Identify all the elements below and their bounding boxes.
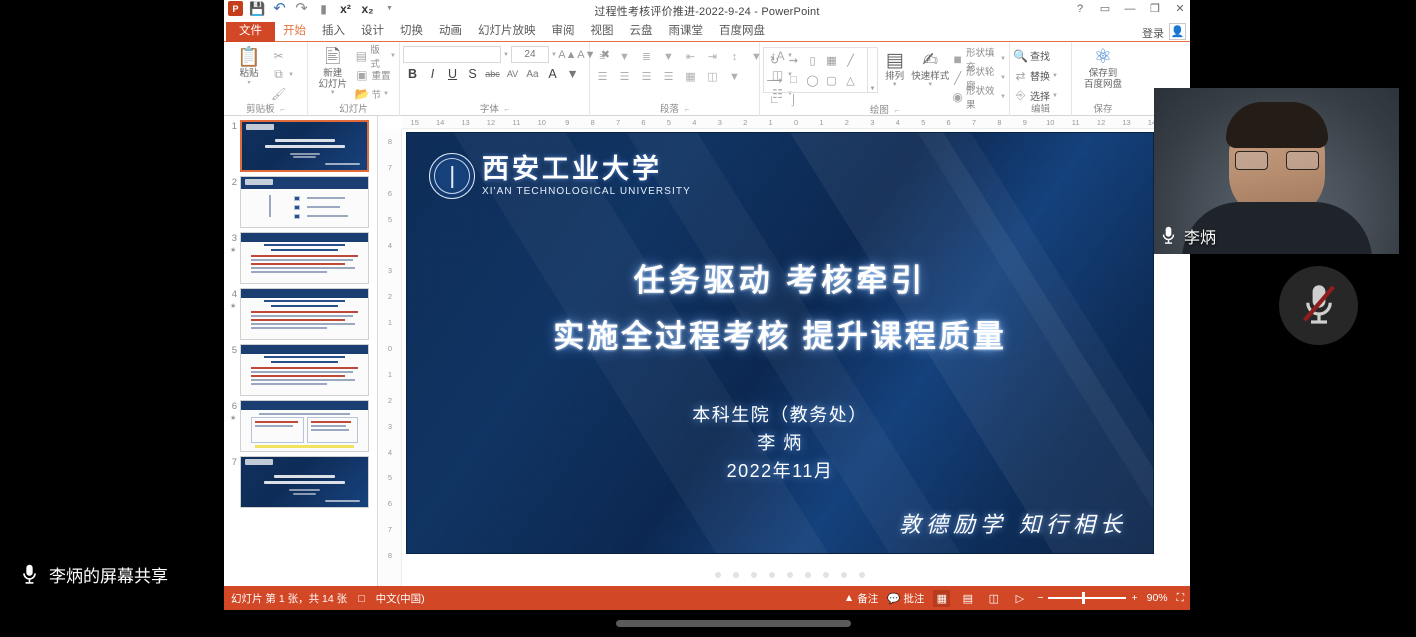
thumb-highlight bbox=[255, 445, 354, 448]
slides-group-label: 幻灯片 bbox=[311, 104, 396, 116]
shape-outline-dropdown-icon[interactable]: ▼ bbox=[1000, 75, 1006, 81]
thumb-title bbox=[264, 481, 345, 484]
slide-canvas-area: 1514131211109876543210123456789101112131… bbox=[378, 116, 1190, 586]
thumbnail-preview[interactable] bbox=[240, 456, 369, 508]
ruler-tick: 1 bbox=[378, 362, 402, 388]
select-button[interactable]: ⎆选择▼ bbox=[1013, 87, 1058, 104]
character-spacing-button[interactable]: AV bbox=[503, 64, 522, 84]
clipboard-group-label: 剪贴板 ⌐ bbox=[227, 104, 304, 116]
ribbon-display-options-icon[interactable]: ▭ bbox=[1099, 2, 1111, 16]
university-motto: 敦德励学 知行相长 bbox=[899, 507, 1127, 539]
participant-hair bbox=[1226, 102, 1328, 148]
ruler-tick: 2 bbox=[732, 118, 757, 127]
save-to-baidu-label: 保存到百度网盘 bbox=[1084, 68, 1122, 90]
tab-云盘[interactable]: 云盘 bbox=[622, 22, 661, 42]
ribbon-group-paragraph: ≡▼ ≣▼ ⇤ ⇥ ↕▼ ☰ ☰ ☰ ☰ ▦ ◫▼ bbox=[590, 42, 760, 116]
slide-thumbnail-2[interactable]: 2 bbox=[228, 176, 369, 228]
ruler-tick: 0 bbox=[783, 118, 808, 127]
nav-dot[interactable] bbox=[695, 572, 703, 580]
thumb-sub bbox=[289, 489, 319, 491]
thumb-line bbox=[271, 361, 337, 363]
tab-雨课堂[interactable]: 雨课堂 bbox=[661, 22, 712, 42]
font-name-dropdown-icon[interactable]: ▼ bbox=[503, 52, 509, 58]
status-bar-left: 幻灯片 第 1 张，共 14 张 ▢ 中文(中国) bbox=[224, 591, 425, 606]
nav-dot[interactable] bbox=[859, 572, 865, 578]
shape-fill-dropdown-icon[interactable]: ▼ bbox=[1000, 56, 1006, 62]
thumbnail-number: 1 bbox=[228, 120, 237, 172]
thumb-line bbox=[271, 249, 337, 251]
university-seal-icon bbox=[429, 153, 475, 199]
thumb-title bbox=[274, 475, 335, 478]
nav-dot[interactable] bbox=[787, 572, 793, 578]
section-button[interactable]: 📂节▼ bbox=[354, 85, 396, 102]
quick-styles-icon: ✍ bbox=[922, 50, 938, 71]
notes-label: 备注 bbox=[857, 591, 878, 606]
thumb-band bbox=[241, 233, 368, 242]
animation-star-icon: ★ bbox=[230, 414, 236, 422]
ruler-tick: 7 bbox=[378, 517, 402, 543]
ruler-tick: 6 bbox=[631, 118, 656, 127]
thumbnail-preview[interactable] bbox=[240, 232, 369, 284]
copy-button[interactable]: ⧉▼ bbox=[271, 66, 294, 83]
arrange-label: 排列 bbox=[885, 71, 904, 82]
animation-star-icon: ★ bbox=[230, 246, 236, 254]
nav-dot[interactable] bbox=[805, 572, 811, 578]
glasses-lens-left bbox=[1235, 151, 1268, 170]
thumb-item bbox=[294, 196, 300, 201]
increase-indent-icon[interactable]: ⇥ bbox=[703, 48, 722, 65]
thumbnail-preview[interactable] bbox=[240, 288, 369, 340]
window-controls[interactable]: ? ▭ — ❐ ✕ bbox=[1074, 2, 1186, 16]
thumb-item bbox=[294, 205, 300, 210]
slide-subtitle: 本科生院（教务处） 李 炳 2022年11月 bbox=[407, 401, 1153, 485]
status-bar-right: ▲ 备注 💬 批注 ▦ ▤ ◫ ▷ − + 90% ⛶ bbox=[844, 590, 1184, 607]
bold-button[interactable]: B bbox=[403, 64, 422, 84]
ruler-tick: 4 bbox=[378, 233, 402, 259]
ruler-tick: 1 bbox=[809, 118, 834, 127]
ruler-tick: 5 bbox=[656, 118, 681, 127]
horizontal-scrollbar[interactable] bbox=[616, 620, 851, 627]
thumb-line bbox=[251, 371, 353, 373]
thumb-band bbox=[241, 345, 368, 354]
distribute-icon[interactable]: ▦ bbox=[681, 68, 700, 85]
font-size-input[interactable]: 24 bbox=[511, 46, 549, 63]
thumb-title bbox=[265, 145, 345, 148]
numbering-dropdown-icon[interactable]: ▼ bbox=[659, 48, 678, 65]
layout-icon: ▤ bbox=[354, 49, 368, 63]
align-right-icon[interactable]: ☰ bbox=[637, 68, 656, 85]
shape-roundrect-icon[interactable]: ▢ bbox=[822, 70, 841, 90]
notes-button[interactable]: ▲ 备注 bbox=[844, 591, 878, 606]
thumb-line bbox=[307, 215, 348, 217]
ruler-tick: 14 bbox=[427, 118, 452, 127]
select-label: 选择 bbox=[1030, 88, 1050, 103]
slide-thumbnail-1[interactable]: 1 bbox=[228, 120, 369, 172]
thumb-line bbox=[311, 421, 352, 423]
thumbnail-preview[interactable] bbox=[240, 400, 369, 452]
ruler-tick: 9 bbox=[1012, 118, 1037, 127]
thumb-logo bbox=[246, 124, 274, 130]
columns-icon[interactable]: ◫ bbox=[703, 68, 722, 85]
ribbon-group-save: ⚛ 保存到百度网盘 保存 bbox=[1072, 42, 1134, 116]
thumb-line bbox=[255, 421, 298, 423]
ruler-tick: 2 bbox=[378, 284, 402, 310]
comments-button[interactable]: 💬 批注 bbox=[887, 591, 924, 606]
replace-dropdown-icon[interactable]: ▼ bbox=[1052, 73, 1058, 79]
thumb-line bbox=[269, 195, 271, 218]
thumbnail-number: 4 bbox=[228, 288, 237, 340]
tab-百度网盘[interactable]: 百度网盘 bbox=[711, 22, 773, 42]
thumb-band bbox=[241, 289, 368, 298]
bullets-icon[interactable]: ≡ bbox=[593, 48, 612, 65]
nav-dot[interactable] bbox=[769, 572, 775, 578]
notes-icon: ▲ bbox=[844, 592, 854, 604]
participant-name: 李炳 bbox=[1184, 224, 1216, 248]
close-button[interactable]: ✕ bbox=[1174, 2, 1186, 16]
section-icon: 📂 bbox=[354, 87, 369, 101]
replace-icon: ⇄ bbox=[1013, 69, 1028, 83]
paragraph-dialog-launcher[interactable]: ⌐ bbox=[684, 105, 689, 114]
help-icon[interactable]: ? bbox=[1074, 2, 1086, 16]
thumbnail-number: 3 bbox=[228, 232, 237, 284]
font-group-label: 字体 ⌐ bbox=[403, 104, 586, 116]
ribbon-group-slides: 🖹 新建幻灯片 ▼ ▤版式▼ ▣重置 📂节▼ 幻灯片 bbox=[308, 42, 400, 116]
shape-effects-icon: ◉ bbox=[951, 90, 964, 104]
copy-dropdown-icon[interactable]: ▼ bbox=[288, 72, 294, 78]
nav-dot[interactable] bbox=[733, 572, 739, 578]
slide-thumbnail-6[interactable]: 6★ bbox=[228, 400, 369, 452]
screen-share-label: 李炳的屏幕共享 bbox=[49, 562, 168, 587]
ruler-tick: 6 bbox=[378, 491, 402, 517]
slide-title-line1: 任务驱动 考核牵引 bbox=[407, 255, 1153, 300]
font-label-text: 字体 bbox=[480, 104, 499, 115]
new-slide-icon: 🖹 bbox=[325, 47, 340, 68]
ruler-tick: 13 bbox=[453, 118, 478, 127]
language-indicator[interactable]: 中文(中国) bbox=[376, 591, 425, 606]
layout-dropdown-icon[interactable]: ▼ bbox=[390, 53, 396, 59]
italic-button[interactable]: I bbox=[423, 64, 442, 84]
subtitle-department: 本科生院（教务处） bbox=[407, 401, 1153, 429]
shape-effects-button[interactable]: ◉形状效果▼ bbox=[951, 88, 1006, 105]
ruler-tick: 8 bbox=[987, 118, 1012, 127]
shape-frame-icon[interactable]: ▦ bbox=[822, 50, 841, 70]
reset-icon: ▣ bbox=[354, 68, 369, 82]
nav-dot[interactable] bbox=[823, 572, 829, 578]
account-icon[interactable]: 👤 bbox=[1169, 23, 1186, 40]
tab-视图[interactable]: 视图 bbox=[583, 22, 622, 42]
paste-button[interactable]: 📋 粘贴 ▾ bbox=[227, 44, 271, 86]
thumb-line bbox=[259, 413, 350, 415]
copy-icon: ⧉ bbox=[271, 67, 286, 82]
university-name: 西安工业大学 bbox=[482, 155, 691, 185]
window-title: 过程性考核评价推进-2022-9-24 - PowerPoint bbox=[224, 3, 1190, 19]
ruler-tick: 11 bbox=[1063, 118, 1088, 127]
thumb-line bbox=[264, 244, 345, 246]
thumb-item bbox=[294, 214, 300, 219]
shape-line-icon[interactable]: ╱ bbox=[841, 50, 860, 70]
zoom-out-button[interactable]: − bbox=[1037, 592, 1043, 604]
new-slide-button[interactable]: 🖹 新建幻灯片 ▼ bbox=[311, 44, 354, 96]
thumbnail-preview[interactable] bbox=[240, 120, 369, 172]
slide-sorter-icon[interactable]: ▤ bbox=[959, 590, 976, 607]
shape-outline-icon: ╱ bbox=[951, 71, 964, 85]
font-dialog-launcher[interactable]: ⌐ bbox=[504, 105, 509, 114]
title-bar: P 💾 ↶ ↷ ▮ x² x₂ ▼ 过程性考核评价推进-2022-9-24 - … bbox=[224, 0, 1190, 21]
editor-area: 123★4★56★7 15141312111098765432101234567… bbox=[224, 116, 1190, 586]
thumb-line bbox=[251, 315, 353, 317]
clipboard-dialog-launcher[interactable]: ⌐ bbox=[280, 105, 285, 114]
shape-curve-icon[interactable]: ⇝ bbox=[784, 50, 803, 70]
thumb-line bbox=[311, 425, 347, 427]
editing-group-label: 编辑 bbox=[1013, 104, 1068, 116]
thumb-line bbox=[311, 429, 349, 431]
numbering-icon[interactable]: ≣ bbox=[637, 48, 656, 65]
shadow-button[interactable]: S bbox=[463, 64, 482, 84]
bullets-dropdown-icon[interactable]: ▼ bbox=[615, 48, 634, 65]
subtitle-date: 2022年11月 bbox=[407, 457, 1153, 485]
ruler-tick: 5 bbox=[378, 207, 402, 233]
tab-切换[interactable]: 切换 bbox=[392, 22, 431, 42]
shape-arrow-icon[interactable]: ⟶ bbox=[765, 70, 784, 90]
columns-dropdown-icon[interactable]: ▼ bbox=[725, 68, 744, 85]
change-case-button[interactable]: Aa bbox=[523, 64, 542, 84]
decrease-indent-icon[interactable]: ⇤ bbox=[681, 48, 700, 65]
normal-view-icon[interactable]: ▦ bbox=[933, 590, 950, 607]
thumb-motto bbox=[325, 500, 361, 502]
horizontal-ruler: 1514131211109876543210123456789101112131… bbox=[402, 116, 1190, 129]
thumb-line bbox=[307, 206, 340, 208]
find-icon: 🔍 bbox=[1013, 49, 1028, 63]
thumb-line bbox=[251, 367, 358, 369]
ribbon-group-font: ▼ 24 ▼ A▲ A▼ ✖ B I U S abc AV Aa bbox=[400, 42, 590, 116]
justify-icon[interactable]: ☰ bbox=[659, 68, 678, 85]
ruler-tick: 3 bbox=[378, 258, 402, 284]
screen-root: P 💾 ↶ ↷ ▮ x² x₂ ▼ 过程性考核评价推进-2022-9-24 - … bbox=[0, 0, 1416, 637]
ruler-tick: 7 bbox=[378, 155, 402, 181]
thumb-logo bbox=[245, 179, 273, 185]
zoom-slider[interactable]: − + bbox=[1037, 592, 1137, 604]
powerpoint-window: P 💾 ↶ ↷ ▮ x² x₂ ▼ 过程性考核评价推进-2022-9-24 - … bbox=[224, 0, 1190, 610]
zoom-in-button[interactable]: + bbox=[1131, 592, 1137, 604]
thumbnail-number: 2 bbox=[228, 176, 237, 228]
status-bar: 幻灯片 第 1 张，共 14 张 ▢ 中文(中国) ▲ 备注 💬 批注 ▦ ▤ … bbox=[224, 586, 1190, 610]
screen-share-left-backdrop bbox=[0, 0, 224, 637]
microphone-icon bbox=[1160, 225, 1177, 247]
slide-thumbnail-7[interactable]: 7 bbox=[228, 456, 369, 508]
thumb-sub bbox=[290, 153, 320, 155]
shape-arc-icon[interactable]: ↻ bbox=[765, 50, 784, 70]
fit-window-icon[interactable]: ⛶ bbox=[1177, 592, 1184, 605]
slide-thumbnail-4[interactable]: 4★ bbox=[228, 288, 369, 340]
drawing-label-text: 绘图 bbox=[870, 105, 889, 116]
comments-label: 批注 bbox=[903, 591, 924, 606]
paste-dropdown-icon[interactable]: ▾ bbox=[247, 79, 250, 86]
section-label: 节 bbox=[371, 87, 381, 101]
strikethrough-button[interactable]: abc bbox=[483, 64, 502, 84]
quick-styles-button[interactable]: ✍ 快速样式 ▼ bbox=[911, 47, 949, 88]
ribbon: 📋 粘贴 ▾ ✂ ⧉▼ 🖌 剪贴板 ⌐ bbox=[224, 42, 1190, 116]
slide-navigation-dots[interactable] bbox=[406, 572, 1154, 580]
ruler-tick: 6 bbox=[936, 118, 961, 127]
ribbon-group-clipboard: 📋 粘贴 ▾ ✂ ⧉▼ 🖌 剪贴板 ⌐ bbox=[224, 42, 308, 116]
shapes-more-button[interactable]: ▼ bbox=[868, 47, 879, 93]
screen-share-indicator: 李炳的屏幕共享 bbox=[20, 562, 168, 587]
reset-label: 重置 bbox=[371, 68, 390, 82]
ruler-tick: 7 bbox=[605, 118, 630, 127]
vertical-ruler: 87654321012345678 bbox=[378, 129, 402, 586]
thumb-line bbox=[251, 311, 358, 313]
participant-name-badge: 李炳 bbox=[1160, 224, 1216, 248]
thumb-line bbox=[271, 305, 337, 307]
nav-dot[interactable] bbox=[841, 572, 847, 578]
minimize-button[interactable]: — bbox=[1124, 2, 1136, 16]
shapes-gallery[interactable]: ↻ ⇝ ▯ ▦ ╱ ⟶ □ ◯ ▢ △ ∟ ⌡ bbox=[763, 47, 868, 93]
new-slide-label: 新建幻灯片 bbox=[318, 68, 347, 90]
new-slide-dropdown-icon[interactable]: ▼ bbox=[330, 90, 336, 96]
quick-styles-dropdown-icon[interactable]: ▼ bbox=[927, 82, 933, 88]
find-button[interactable]: 🔍查找 bbox=[1013, 47, 1058, 64]
nav-dot[interactable] bbox=[715, 572, 721, 578]
line-spacing-icon[interactable]: ↕ bbox=[725, 48, 744, 65]
align-center-icon[interactable]: ☰ bbox=[615, 68, 634, 85]
arrange-button[interactable]: ▤ 排列 ▼ bbox=[878, 47, 911, 88]
tab-动画[interactable]: 动画 bbox=[431, 22, 470, 42]
thumb-line bbox=[251, 327, 327, 329]
font-name-input[interactable] bbox=[403, 46, 501, 63]
ribbon-tab-strip: 文件开始插入设计切换动画幻灯片放映审阅视图云盘雨课堂百度网盘 登录 👤 bbox=[224, 21, 1190, 42]
ribbon-group-editing: 🔍查找 ⇄替换▼ ⎆选择▼ 编辑 bbox=[1010, 42, 1072, 116]
paragraph-group-label: 段落 ⌐ bbox=[593, 104, 756, 116]
thumbnail-preview[interactable] bbox=[240, 344, 369, 396]
select-icon: ⎆ bbox=[1013, 88, 1028, 103]
ruler-tick: 8 bbox=[580, 118, 605, 127]
thumb-line bbox=[255, 425, 293, 427]
cut-icon: ✂ bbox=[271, 49, 286, 63]
ribbon-group-drawing: ↻ ⇝ ▯ ▦ ╱ ⟶ □ ◯ ▢ △ ∟ ⌡ ▼ bbox=[760, 42, 1010, 116]
muted-participant-avatar[interactable] bbox=[1279, 266, 1358, 345]
slide-canvas[interactable]: 西安工业大学 XI'AN TECHNOLOGICAL UNIVERSITY 任务… bbox=[406, 132, 1154, 554]
thumbnail-preview[interactable] bbox=[240, 176, 369, 228]
replace-button[interactable]: ⇄替换▼ bbox=[1013, 67, 1058, 84]
nav-dot[interactable] bbox=[751, 572, 757, 578]
ruler-tick: 10 bbox=[1038, 118, 1063, 127]
shape-textbox-icon[interactable]: ▯ bbox=[803, 50, 822, 70]
slide-thumbnail-3[interactable]: 3★ bbox=[228, 232, 369, 284]
replace-label: 替换 bbox=[1030, 68, 1050, 83]
shape-triangle-icon[interactable]: △ bbox=[841, 70, 860, 90]
ruler-tick: 4 bbox=[682, 118, 707, 127]
thumb-line bbox=[251, 259, 353, 261]
shape-effects-dropdown-icon[interactable]: ▼ bbox=[1000, 94, 1006, 100]
ruler-tick: 8 bbox=[378, 543, 402, 569]
thumb-motto bbox=[325, 163, 360, 165]
thumb-line bbox=[251, 271, 327, 273]
slide-counter: 幻灯片 第 1 张，共 14 张 bbox=[231, 591, 347, 606]
reset-button[interactable]: ▣重置 bbox=[354, 66, 396, 83]
ruler-tick: 3 bbox=[860, 118, 885, 127]
tab-审阅[interactable]: 审阅 bbox=[544, 22, 583, 42]
slideshow-icon[interactable]: ▷ bbox=[1011, 590, 1028, 607]
format-painter-icon: 🖌 bbox=[271, 87, 286, 101]
font-color-dropdown-icon[interactable]: ▼ bbox=[563, 64, 582, 84]
thumb-line bbox=[251, 383, 327, 385]
slide-thumbnail-5[interactable]: 5 bbox=[228, 344, 369, 396]
arrange-icon: ▤ bbox=[886, 50, 904, 71]
tab-插入[interactable]: 插入 bbox=[314, 22, 353, 42]
ruler-tick: 9 bbox=[555, 118, 580, 127]
grow-font-icon[interactable]: A▲ bbox=[559, 46, 576, 63]
glasses-lens-right bbox=[1286, 151, 1319, 170]
zoom-track[interactable] bbox=[1048, 597, 1126, 599]
thumb-logo bbox=[245, 459, 273, 465]
thumb-band bbox=[241, 401, 368, 410]
video-participant-tile[interactable]: 李炳 bbox=[1154, 88, 1399, 254]
paste-label: 粘贴 bbox=[239, 68, 258, 79]
thumbnail-number: 7 bbox=[228, 456, 237, 508]
thumbnail-number: 6 bbox=[228, 400, 237, 452]
theme-icon[interactable]: ▢ bbox=[357, 593, 366, 604]
ruler-tick: 2 bbox=[834, 118, 859, 127]
arrange-dropdown-icon[interactable]: ▼ bbox=[892, 82, 898, 88]
ruler-tick: 3 bbox=[707, 118, 732, 127]
tab-幻灯片放映[interactable]: 幻灯片放映 bbox=[470, 22, 544, 42]
cut-button[interactable]: ✂ bbox=[271, 47, 294, 64]
underline-button[interactable]: U bbox=[443, 64, 462, 84]
thumb-sub bbox=[293, 156, 316, 158]
ruler-tick: 10 bbox=[529, 118, 554, 127]
ribbon-tabs[interactable]: 文件开始插入设计切换动画幻灯片放映审阅视图云盘雨课堂百度网盘 bbox=[224, 21, 1190, 42]
save-group-label: 保存 bbox=[1075, 104, 1131, 116]
clipboard-label-text: 剪贴板 bbox=[246, 104, 275, 115]
tab-开始[interactable]: 开始 bbox=[275, 22, 314, 42]
shape-fill-icon: ◾ bbox=[951, 52, 964, 66]
format-painter-button[interactable]: 🖌 bbox=[271, 85, 294, 102]
shape-rect-icon[interactable]: □ bbox=[784, 70, 803, 90]
shape-oval-icon[interactable]: ◯ bbox=[803, 70, 822, 90]
font-size-dropdown-icon[interactable]: ▼ bbox=[551, 52, 557, 58]
restore-button[interactable]: ❐ bbox=[1149, 2, 1161, 16]
thumb-line bbox=[251, 323, 355, 325]
save-to-baidu-netdisk-button[interactable]: ⚛ 保存到百度网盘 bbox=[1075, 44, 1131, 90]
drawing-dialog-launcher[interactable]: ⌐ bbox=[894, 106, 899, 115]
slide-title-line2: 实施全过程考核 提升课程质量 bbox=[407, 311, 1153, 356]
ruler-tick: 12 bbox=[1088, 118, 1113, 127]
thumb-line bbox=[251, 255, 358, 257]
baidu-netdisk-icon: ⚛ bbox=[1094, 47, 1112, 68]
font-color-button[interactable]: A bbox=[543, 64, 562, 84]
reading-view-icon[interactable]: ◫ bbox=[985, 590, 1002, 607]
layout-button[interactable]: ▤版式▼ bbox=[354, 47, 396, 64]
tab-文件[interactable]: 文件 bbox=[226, 22, 275, 42]
ruler-tick: 3 bbox=[378, 414, 402, 440]
tab-设计[interactable]: 设计 bbox=[353, 22, 392, 42]
sign-in-link[interactable]: 登录 bbox=[1142, 25, 1164, 41]
ruler-tick: 5 bbox=[910, 118, 935, 127]
select-dropdown-icon[interactable]: ▼ bbox=[1052, 93, 1058, 99]
participant-glasses bbox=[1235, 150, 1319, 170]
slide-thumbnail-pane[interactable]: 123★4★56★7 bbox=[224, 116, 378, 586]
ruler-tick: 7 bbox=[961, 118, 986, 127]
thumb-line bbox=[251, 379, 355, 381]
align-left-icon[interactable]: ☰ bbox=[593, 68, 612, 85]
ruler-tick: 0 bbox=[378, 336, 402, 362]
zoom-handle[interactable] bbox=[1082, 592, 1085, 604]
paragraph-label-text: 段落 bbox=[660, 104, 679, 115]
section-dropdown-icon[interactable]: ▼ bbox=[383, 91, 389, 97]
thumb-sub bbox=[293, 493, 316, 495]
ruler-tick: 4 bbox=[378, 440, 402, 466]
zoom-level: 90% bbox=[1147, 592, 1168, 604]
